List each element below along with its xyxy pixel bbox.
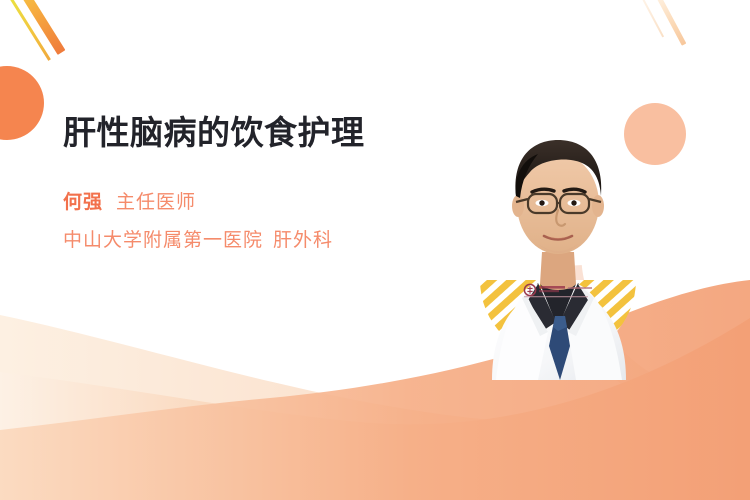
diagonal-stripe-icon [20, 0, 66, 55]
doctor-name: 何强 [63, 191, 103, 213]
video-cover-card: 肝性脑病的饮食护理 何强主任医师 中山大学附属第一医院肝外科 [0, 0, 750, 500]
doctor-affiliation: 中山大学附属第一医院肝外科 [63, 231, 423, 250]
doctor-portrait [452, 84, 664, 380]
doctor-title: 主任医师 [116, 191, 196, 213]
diagonal-stripe-icon [655, 0, 687, 46]
page-title: 肝性脑病的饮食护理 [63, 112, 423, 155]
diagonal-stripe-icon [638, 0, 664, 37]
orange-circle-decoration [0, 66, 44, 140]
diagonal-stripe-icon [8, 0, 50, 61]
doctor-byline: 何强主任医师 [63, 193, 423, 212]
text-block: 肝性脑病的饮食护理 何强主任医师 中山大学附属第一医院肝外科 [63, 112, 423, 250]
hospital-name: 中山大学附属第一医院 [63, 229, 263, 251]
department-name: 肝外科 [273, 229, 333, 251]
diagonal-stripe-icon [145, 363, 164, 397]
